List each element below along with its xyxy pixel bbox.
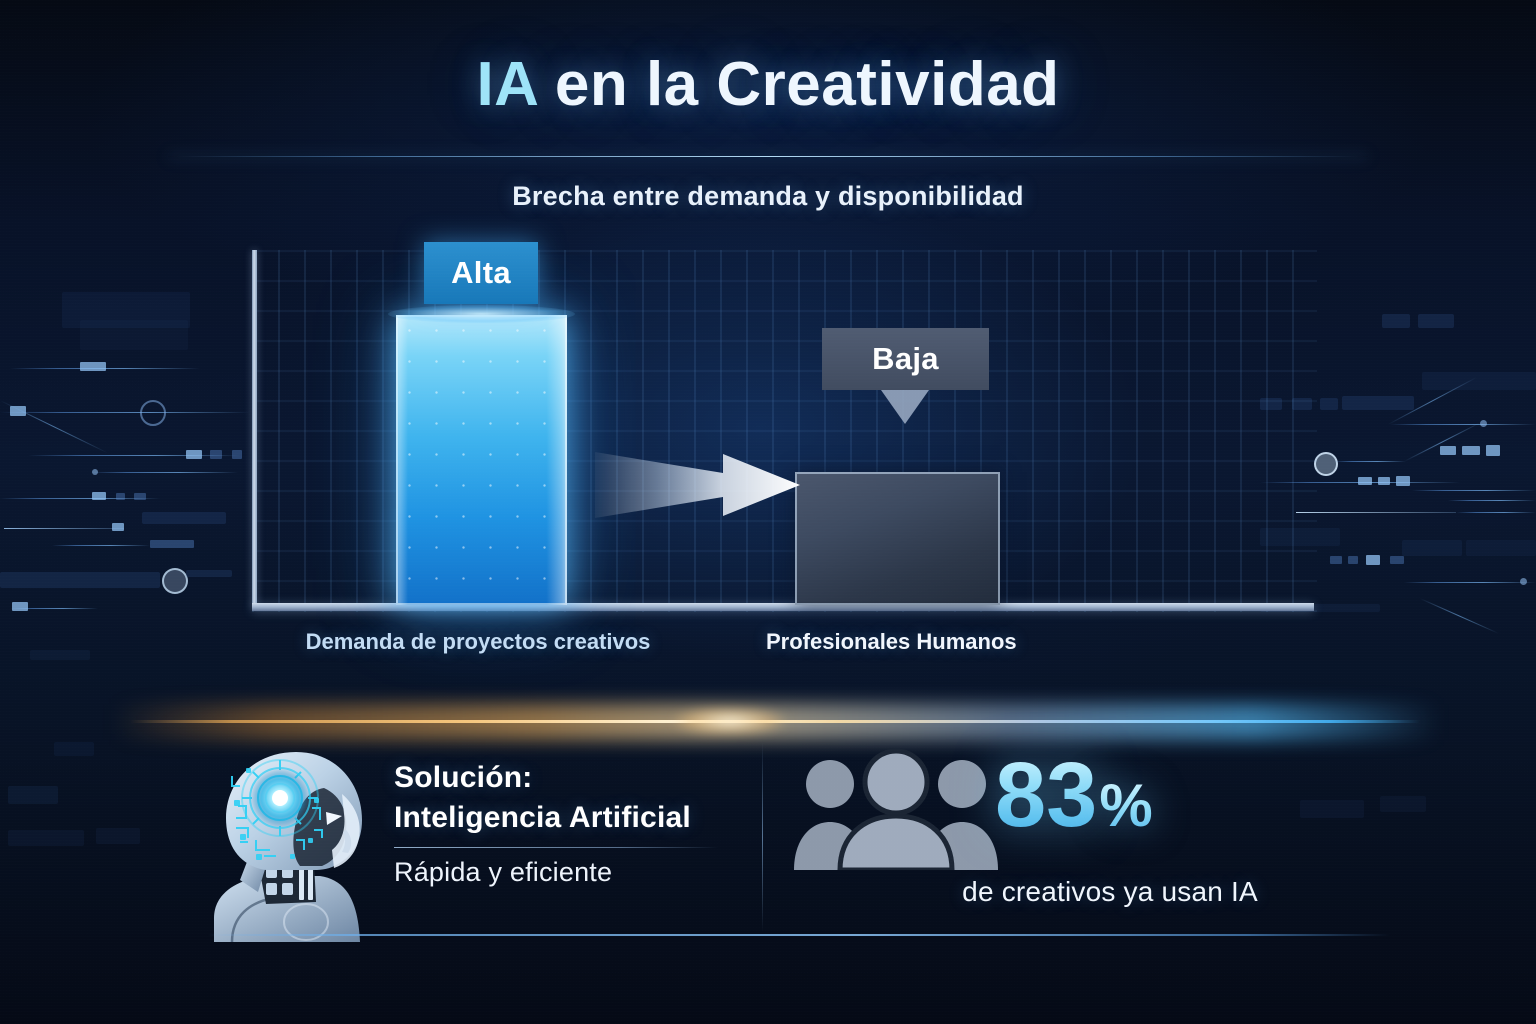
bar-demand-high <box>396 315 567 605</box>
title-divider <box>168 156 1368 157</box>
beam-flare <box>675 708 785 734</box>
bar-sparkle-overlay <box>396 315 567 605</box>
solution-divider <box>394 847 718 848</box>
infographic-canvas: IA en la Creatividad Brecha entre demand… <box>0 0 1536 1024</box>
title-accent: IA <box>476 50 537 119</box>
y-axis <box>252 250 257 607</box>
badge-baja: Baja <box>822 328 989 390</box>
page-subtitle: Brecha entre demanda y disponibilidad <box>0 181 1536 212</box>
percent-number: 83 <box>995 752 1097 839</box>
robot-head-icon <box>196 742 396 942</box>
panel-separator <box>762 742 763 932</box>
x-axis-label-demand: Demanda de proyectos creativos <box>293 628 663 656</box>
badge-alta: Alta <box>424 242 538 304</box>
people-group-icon <box>790 748 1002 870</box>
x-axis-label-professionals: Profesionales Humanos <box>766 628 1106 656</box>
stat-percentage: 83 % <box>995 752 1153 839</box>
flow-arrow-icon <box>595 446 800 524</box>
bar-professionals-low <box>795 472 1000 605</box>
solution-panel: Solución: Inteligencia Artificial Rápida… <box>394 758 744 888</box>
solution-line-1: Solución: <box>394 758 744 798</box>
bar-chart: Alta Baja <box>252 250 1317 612</box>
stat-caption: de creativos ya usan IA <box>900 876 1320 908</box>
solution-subtitle: Rápida y eficiente <box>394 857 744 888</box>
baja-pointer-triangle-icon <box>881 390 929 424</box>
title-rest: en la Creatividad <box>537 50 1059 119</box>
bottom-divider <box>208 934 1390 936</box>
light-beam-divider <box>130 700 1420 744</box>
percent-symbol: % <box>1099 777 1152 834</box>
page-title: IA en la Creatividad <box>0 54 1536 116</box>
solution-line-2: Inteligencia Artificial <box>394 798 744 838</box>
bar-top-glow <box>388 305 575 323</box>
